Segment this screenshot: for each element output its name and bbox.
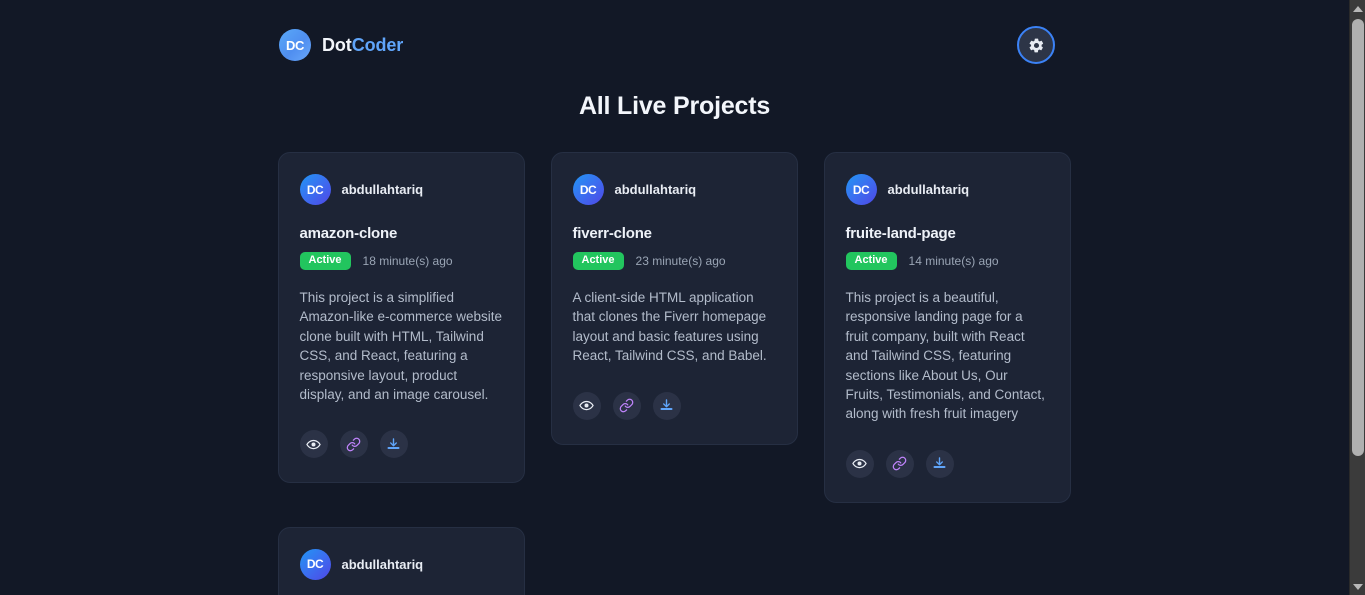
username: abdullahtariq (888, 182, 970, 197)
link-icon (346, 437, 361, 452)
username: abdullahtariq (342, 182, 424, 197)
project-card[interactable]: DC abdullahtariq fruite-land-page Active… (824, 152, 1071, 503)
project-card[interactable]: DC abdullahtariq amazon-clone Active 18 … (278, 152, 525, 483)
status-badge: Active (846, 252, 897, 270)
project-card[interactable]: DC abdullahtariq youtube-clone Active (278, 527, 525, 595)
card-meta: Active 23 minute(s) ago (573, 252, 776, 270)
app-header: DC DotCoder (0, 0, 1349, 64)
avatar: DC (573, 174, 604, 205)
download-button[interactable] (653, 392, 681, 420)
timestamp: 14 minute(s) ago (909, 254, 999, 268)
brand[interactable]: DC DotCoder (279, 29, 403, 61)
card-actions (300, 430, 503, 458)
settings-button[interactable] (1017, 26, 1055, 64)
scroll-down-arrow-icon[interactable] (1350, 578, 1365, 595)
link-button[interactable] (613, 392, 641, 420)
username: abdullahtariq (342, 557, 424, 572)
project-description: This project is a simplified Amazon-like… (300, 288, 503, 404)
scroll-up-arrow-icon[interactable] (1350, 0, 1365, 17)
link-icon (619, 398, 634, 413)
card-user: DC abdullahtariq (300, 174, 503, 205)
brand-logo-icon: DC (279, 29, 311, 61)
download-icon (659, 398, 674, 413)
eye-icon (306, 437, 321, 452)
vertical-scrollbar[interactable] (1349, 0, 1365, 595)
download-button[interactable] (926, 450, 954, 478)
timestamp: 18 minute(s) ago (363, 254, 453, 268)
card-user: DC abdullahtariq (573, 174, 776, 205)
preview-button[interactable] (573, 392, 601, 420)
scrollbar-thumb[interactable] (1352, 19, 1364, 456)
card-meta: Active 18 minute(s) ago (300, 252, 503, 270)
page-viewport: DC DotCoder All Live Projects DC abdulla… (0, 0, 1349, 595)
brand-name-part1: Dot (322, 35, 352, 55)
avatar: DC (300, 174, 331, 205)
card-user: DC abdullahtariq (846, 174, 1049, 205)
link-button[interactable] (886, 450, 914, 478)
avatar: DC (300, 549, 331, 580)
card-actions (846, 450, 1049, 478)
link-icon (892, 456, 907, 471)
download-button[interactable] (380, 430, 408, 458)
brand-name-part2: Coder (352, 35, 404, 55)
timestamp: 23 minute(s) ago (636, 254, 726, 268)
preview-button[interactable] (300, 430, 328, 458)
username: abdullahtariq (615, 182, 697, 197)
projects-grid: DC abdullahtariq amazon-clone Active 18 … (0, 121, 1349, 595)
status-badge: Active (573, 252, 624, 270)
project-title: fiverr-clone (573, 225, 776, 242)
page-title: All Live Projects (0, 92, 1349, 121)
gear-icon (1028, 37, 1045, 54)
card-meta: Active 14 minute(s) ago (846, 252, 1049, 270)
project-description: A client-side HTML application that clon… (573, 288, 776, 366)
preview-button[interactable] (846, 450, 874, 478)
download-icon (386, 437, 401, 452)
brand-name: DotCoder (322, 35, 403, 56)
download-icon (932, 456, 947, 471)
card-actions (573, 392, 776, 420)
project-description: This project is a beautiful, responsive … (846, 288, 1049, 424)
eye-icon (852, 456, 867, 471)
avatar: DC (846, 174, 877, 205)
project-card[interactable]: DC abdullahtariq fiverr-clone Active 23 … (551, 152, 798, 445)
status-badge: Active (300, 252, 351, 270)
page-content: DC DotCoder All Live Projects DC abdulla… (0, 0, 1349, 595)
link-button[interactable] (340, 430, 368, 458)
project-title: fruite-land-page (846, 225, 1049, 242)
project-title: amazon-clone (300, 225, 503, 242)
eye-icon (579, 398, 594, 413)
card-user: DC abdullahtariq (300, 549, 503, 580)
